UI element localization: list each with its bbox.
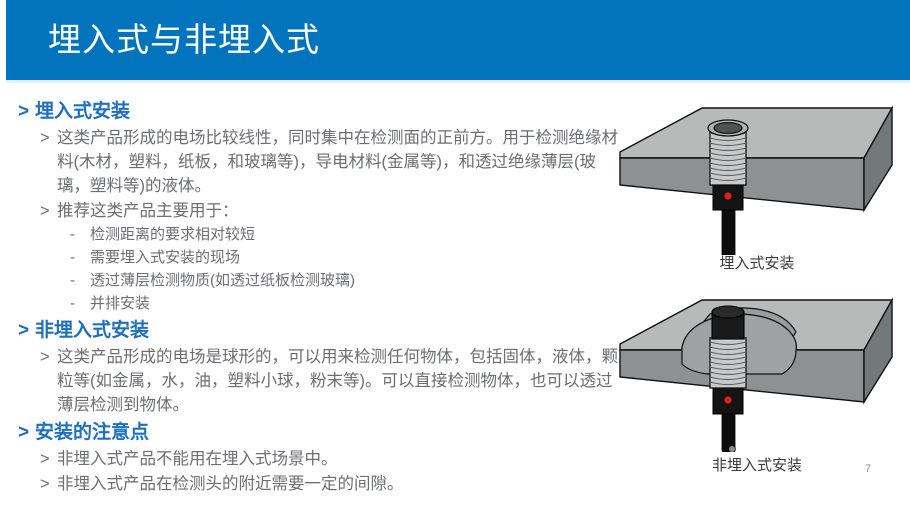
- sub-bullet-item: - 并排安装: [70, 292, 618, 315]
- non-embedded-installation-diagram: [612, 292, 902, 457]
- bullet-marker-chevron: >: [40, 199, 57, 223]
- bullet-item: > 这类产品形成的电场是球形的，可以用来检测任何物体，包括固体，液体，颗粒等(如…: [40, 345, 618, 417]
- bullet-marker-chevron: >: [18, 419, 35, 446]
- sub-bullet-text: 透过薄层检测物质(如透过纸板检测玻璃): [90, 269, 355, 292]
- figure-caption-embedded: 埋入式安装: [612, 252, 902, 273]
- section-heading-installation-notes: > 安装的注意点: [18, 419, 618, 446]
- bullet-text: 这类产品形成的电场是球形的，可以用来检测任何物体，包括固体，液体，颗粒等(如金属…: [57, 345, 618, 417]
- bullet-marker-dash: -: [70, 292, 90, 315]
- slide-canvas: 埋入式与非埋入式 > 埋入式安装 > 这类产品形成的电场比较线性，同时集中在检测…: [0, 0, 910, 512]
- bullet-marker-chevron: >: [40, 472, 57, 496]
- bullet-text: 非埋入式产品在检测头的附近需要一定的间隙。: [57, 472, 618, 496]
- bullet-marker-chevron: >: [18, 98, 35, 125]
- bullet-marker-chevron: >: [40, 345, 57, 369]
- led-indicator-icon: [724, 396, 731, 403]
- bullet-text: 推荐这类产品主要用于：: [57, 199, 618, 223]
- sub-bullet-text: 需要埋入式安装的现场: [90, 246, 240, 269]
- section-heading-label: 安装的注意点: [35, 419, 149, 446]
- content-body: > 埋入式安装 > 这类产品形成的电场比较线性，同时集中在检测面的正前方。用于检…: [18, 96, 618, 496]
- section-heading-non-embedded: > 非埋入式安装: [18, 317, 618, 344]
- sub-bullet-text: 并排安装: [90, 292, 150, 315]
- bullet-marker-dash: -: [70, 246, 90, 269]
- slab-top-face: [620, 108, 892, 158]
- sub-bullet-item: - 透过薄层检测物质(如透过纸板检测玻璃): [70, 269, 618, 292]
- bullet-marker-dash: -: [70, 269, 90, 292]
- page-title: 埋入式与非埋入式: [48, 18, 320, 62]
- bullet-marker-chevron: >: [40, 447, 57, 471]
- bullet-item: > 这类产品形成的电场比较线性，同时集中在检测面的正前方。用于检测绝缘材料(木材…: [40, 126, 618, 198]
- cable-end-cap: [729, 446, 736, 452]
- section-heading-label: 埋入式安装: [35, 98, 130, 125]
- embedded-installation-diagram: [612, 100, 902, 260]
- bullet-marker-dash: -: [70, 223, 90, 246]
- bullet-text: 这类产品形成的电场比较线性，同时集中在检测面的正前方。用于检测绝缘材料(木材，塑…: [57, 126, 618, 198]
- sensor-cable: [722, 208, 735, 255]
- section-heading-embedded: > 埋入式安装: [18, 98, 618, 125]
- led-indicator-icon: [724, 192, 731, 199]
- section-heading-label: 非埋入式安装: [35, 317, 149, 344]
- sub-bullet-text: 检测距离的要求相对较短: [90, 223, 255, 246]
- sensor-sensing-face: [714, 123, 742, 134]
- sensor-sensing-face: [712, 306, 744, 318]
- bullet-item: > 非埋入式产品在检测头的附近需要一定的间隙。: [40, 472, 618, 496]
- sub-bullet-item: - 检测距离的要求相对较短: [70, 223, 618, 246]
- bullet-item: > 非埋入式产品不能用在埋入式场景中。: [40, 447, 618, 471]
- bullet-item: > 推荐这类产品主要用于：: [40, 199, 618, 223]
- non-embedded-installation-svg: [612, 292, 902, 452]
- bullet-marker-chevron: >: [40, 126, 57, 150]
- bullet-marker-chevron: >: [18, 317, 35, 344]
- banner-underline-divider: [6, 80, 910, 83]
- embedded-installation-svg: [612, 100, 902, 255]
- title-banner: 埋入式与非埋入式: [6, 0, 910, 80]
- sub-bullet-item: - 需要埋入式安装的现场: [70, 246, 618, 269]
- page-number: 7: [858, 463, 878, 475]
- bullet-text: 非埋入式产品不能用在埋入式场景中。: [57, 447, 618, 471]
